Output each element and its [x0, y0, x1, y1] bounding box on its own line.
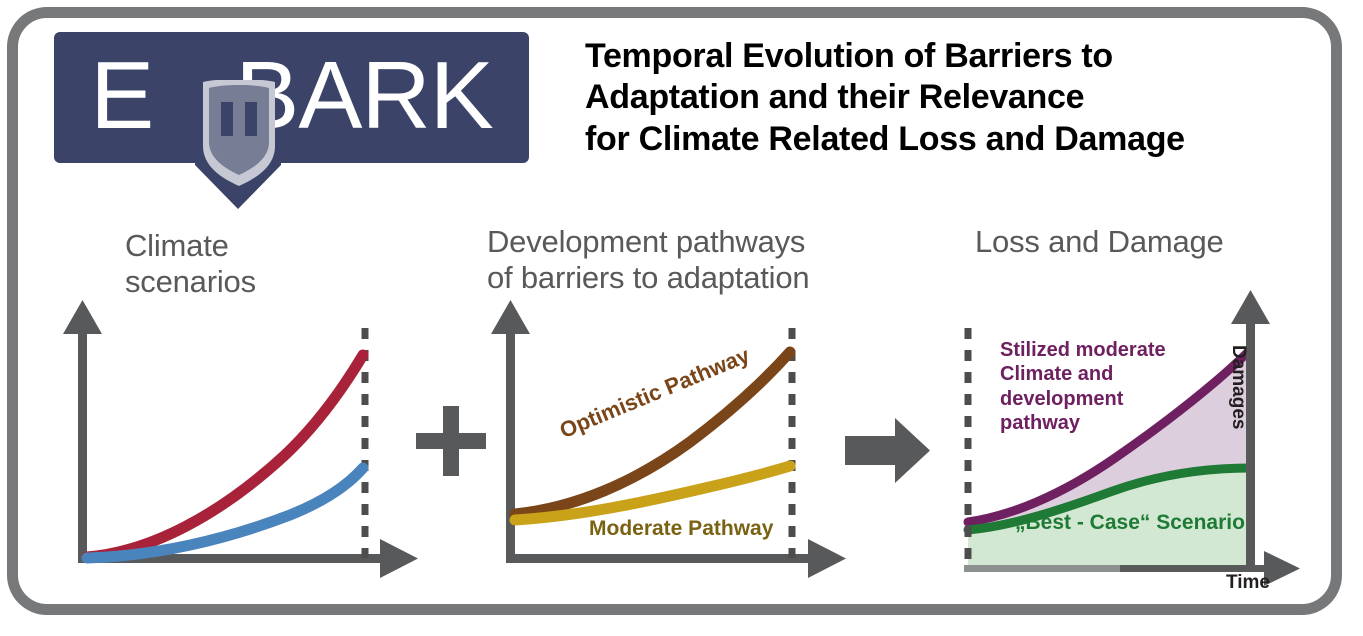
chart-climate-scenarios: [60, 300, 420, 580]
label-stilized-pathway: Stilized moderate Climate and developmen…: [1000, 338, 1190, 436]
stilized-line-2: Climate and: [1000, 362, 1190, 386]
climate-heading-line-1: Climate: [125, 228, 425, 264]
stilized-line-1: Stilized moderate: [1000, 338, 1190, 362]
label-best-case-scenario: „Best - Case“ Scenario: [1015, 511, 1245, 535]
arrow-right-operator-icon: [845, 418, 930, 483]
climate-heading-line-2: scenarios: [125, 264, 425, 300]
loss-heading-line-1: Loss and Damage: [975, 224, 1305, 260]
axis-label-damages: Damages: [1227, 345, 1249, 430]
logo-letter-e: E: [90, 48, 153, 144]
label-moderate-pathway: Moderate Pathway: [589, 517, 773, 541]
y-axis: [63, 300, 102, 563]
title-line-2: Adaptation and their Relevance: [585, 77, 1325, 118]
series-optimistic-pathway: [515, 352, 790, 514]
dev-heading-line-1: Development pathways: [487, 224, 917, 260]
series-high-emission: [87, 355, 363, 557]
panel-heading-climate-scenarios: Climate scenarios: [125, 228, 425, 301]
embark-logo: E BARK: [54, 32, 529, 184]
title-line-1: Temporal Evolution of Barriers to: [585, 36, 1325, 77]
infographic-canvas: E BARK Temporal Evolution of Barriers to…: [0, 0, 1363, 636]
stilized-line-3: development: [1000, 387, 1190, 411]
x-axis: [506, 539, 846, 578]
series-moderate-pathway: [515, 466, 790, 520]
stilized-line-4: pathway: [1000, 411, 1190, 435]
axis-label-time: Time: [1226, 572, 1270, 594]
title-line-3: for Climate Related Loss and Damage: [585, 119, 1325, 160]
page-title: Temporal Evolution of Barriers to Adapta…: [585, 36, 1325, 160]
panel-heading-loss-and-damage: Loss and Damage: [975, 224, 1305, 260]
chart-loss-and-damage: [940, 280, 1300, 600]
logo-wordmark: E BARK: [54, 32, 529, 163]
panel-heading-development-pathways: Development pathways of barriers to adap…: [487, 224, 917, 297]
shield-icon: [199, 80, 279, 188]
